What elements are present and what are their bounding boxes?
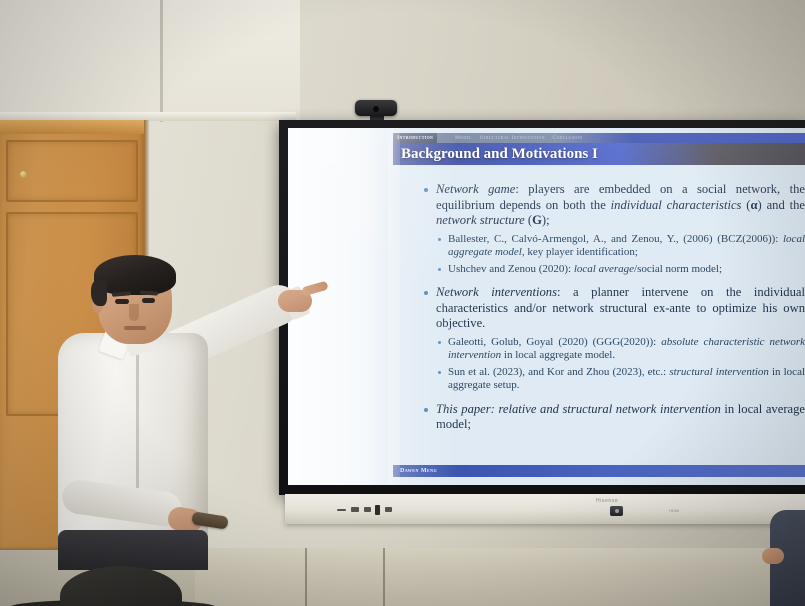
citation-text: , key player identification; — [522, 246, 638, 258]
citation-text: in local aggregate model. — [501, 349, 615, 361]
presenter-trousers — [58, 530, 208, 570]
interactive-display[interactable]: Introduction Model Structural Interventi… — [279, 120, 805, 495]
bullet-network-interventions: Network interventions: a planner interve… — [423, 285, 805, 393]
bullet-list-level2: Galeotti, Golub, Goyal (2020) (GGG(2020)… — [436, 336, 805, 393]
citation-sun: Sun et al. (2023), and Kor and Zhou (202… — [436, 366, 805, 393]
port-icon — [375, 505, 380, 515]
webcam-icon — [355, 100, 397, 116]
display-screen[interactable]: Introduction Model Structural Interventi… — [288, 128, 805, 485]
bezel-port-label: HDMI — [669, 508, 679, 513]
door-header — [0, 120, 146, 134]
presenter-index-finger — [301, 281, 328, 297]
bullet-lead-network-interventions: Network interventions — [436, 285, 557, 299]
bullet-lead-network-game: Network game — [436, 182, 515, 196]
presenter — [40, 258, 350, 558]
presenter-pointing-hand — [278, 284, 324, 314]
port-icon — [364, 507, 371, 512]
nav-item-introduction[interactable]: Introduction — [393, 133, 437, 143]
bullet-list-level1: Network game: players are embedded on a … — [423, 182, 805, 433]
power-icon — [615, 509, 619, 513]
slide-footer-author: Dawen Meng — [393, 465, 805, 477]
citation-text: Ushchev and Zenou (2020): — [448, 263, 574, 275]
bullet-this-paper: This paper: relative and structural netw… — [423, 402, 805, 433]
citation-em: structural intervention — [669, 366, 769, 378]
citation-ushchev: Ushchev and Zenou (2020): local average/… — [436, 263, 805, 277]
presenter-mouth — [124, 326, 146, 330]
nav-item-list[interactable]: Model Structural Intervention Conclusion — [455, 133, 588, 143]
presentation-slide: Introduction Model Structural Interventi… — [288, 128, 805, 485]
wall-seam — [160, 0, 163, 122]
bullet-symbol-g: G — [532, 213, 542, 227]
nav-item-conclusion[interactable]: Conclusion — [553, 135, 583, 141]
port-icon — [351, 507, 359, 512]
bullet-lead-this-paper: This paper — [436, 402, 491, 416]
door-knob — [20, 171, 27, 178]
citation-em: local average — [574, 263, 634, 275]
bullet-em: individual characteristics — [611, 198, 742, 212]
port-icon — [385, 507, 392, 512]
presenter-eye-right — [142, 298, 155, 303]
bullet-text: ( — [741, 198, 750, 212]
audience-member-right-hand — [762, 548, 784, 564]
bullet-text: ); — [542, 213, 550, 227]
slide-navigation-bar[interactable]: Introduction Model Structural Interventi… — [393, 133, 805, 143]
slide-title: Background and Motivations I — [393, 143, 805, 165]
slide-body: Network game: players are embedded on a … — [393, 170, 805, 457]
citation-text: Sun et al. (2023), and Kor and Zhou (202… — [448, 366, 669, 378]
bullet-em: network structure — [436, 213, 525, 227]
citation-ballester: Ballester, C., Calvó-Armengol, A., and Z… — [436, 233, 805, 260]
bullet-text: ( — [525, 213, 532, 227]
webcam-lens — [373, 106, 379, 112]
citation-galeotti: Galeotti, Golub, Goyal (2020) (GGG(2020)… — [436, 336, 805, 363]
lecture-room-photo: Introduction Model Structural Interventi… — [0, 0, 805, 606]
presenter-hair-side — [91, 280, 107, 306]
desk-seam — [383, 548, 385, 606]
nav-item-structural-intervention[interactable]: Structural Intervention — [480, 135, 545, 141]
display-brand-label: Hisense — [596, 498, 618, 504]
citation-text: Galeotti, Golub, Goyal (2020) (GGG(2020)… — [448, 336, 661, 348]
bullet-list-level2: Ballester, C., Calvó-Armengol, A., and Z… — [436, 233, 805, 277]
wall-upper-section — [0, 0, 300, 120]
nav-item-model[interactable]: Model — [455, 135, 472, 141]
bullet-network-game: Network game: players are embedded on a … — [423, 182, 805, 276]
bullet-em: : relative and structural network interv… — [491, 402, 721, 416]
presenter-nose — [129, 304, 139, 321]
power-button[interactable] — [610, 506, 623, 516]
bullet-symbol-alpha: α — [751, 198, 758, 212]
bullet-text: ) and the — [758, 198, 805, 212]
citation-text: /social norm model; — [634, 263, 722, 275]
citation-text: Ballester, C., Calvó-Armengol, A., and Z… — [448, 233, 783, 245]
presenter-eye-left — [115, 299, 129, 304]
